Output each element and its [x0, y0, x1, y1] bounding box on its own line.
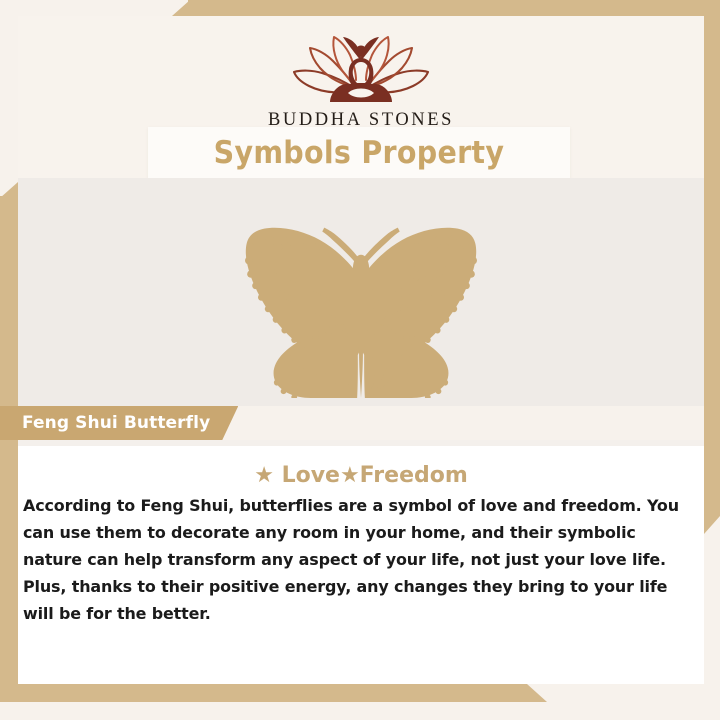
- lotus-meditation-figure-icon: [286, 30, 436, 106]
- frame-top-bar-slant: [172, 0, 190, 16]
- frame-top-bar: [188, 0, 720, 16]
- title-banner: Symbols Property: [148, 127, 570, 178]
- content-subtitle: ★ Love★Freedom: [18, 463, 704, 488]
- panel-top-strip: [18, 440, 704, 446]
- content-panel: ★ Love★Freedom According to Feng Shui, b…: [18, 440, 704, 684]
- tag-label: Feng Shui Butterfly: [22, 413, 210, 433]
- frame-left-lower-bar: [0, 441, 18, 694]
- brand-logo: BUDDHA STONES: [18, 30, 704, 131]
- infographic-page: BUDDHA STONES Symbols Property: [0, 0, 720, 720]
- feng-shui-butterfly-tag: Feng Shui Butterfly: [0, 406, 238, 440]
- content-paragraph: According to Feng Shui, butterflies are …: [23, 492, 690, 627]
- frame-bottom-bar: [0, 684, 527, 702]
- page-title: Symbols Property: [214, 135, 505, 171]
- frame-bottom-bar-tip: [527, 684, 547, 702]
- illustration-section: [18, 178, 704, 406]
- frame-right-bar: [704, 0, 720, 516]
- frame-right-bar-tip: [704, 516, 720, 534]
- frame-left-bar: [0, 196, 18, 441]
- butterfly-icon: [215, 216, 507, 398]
